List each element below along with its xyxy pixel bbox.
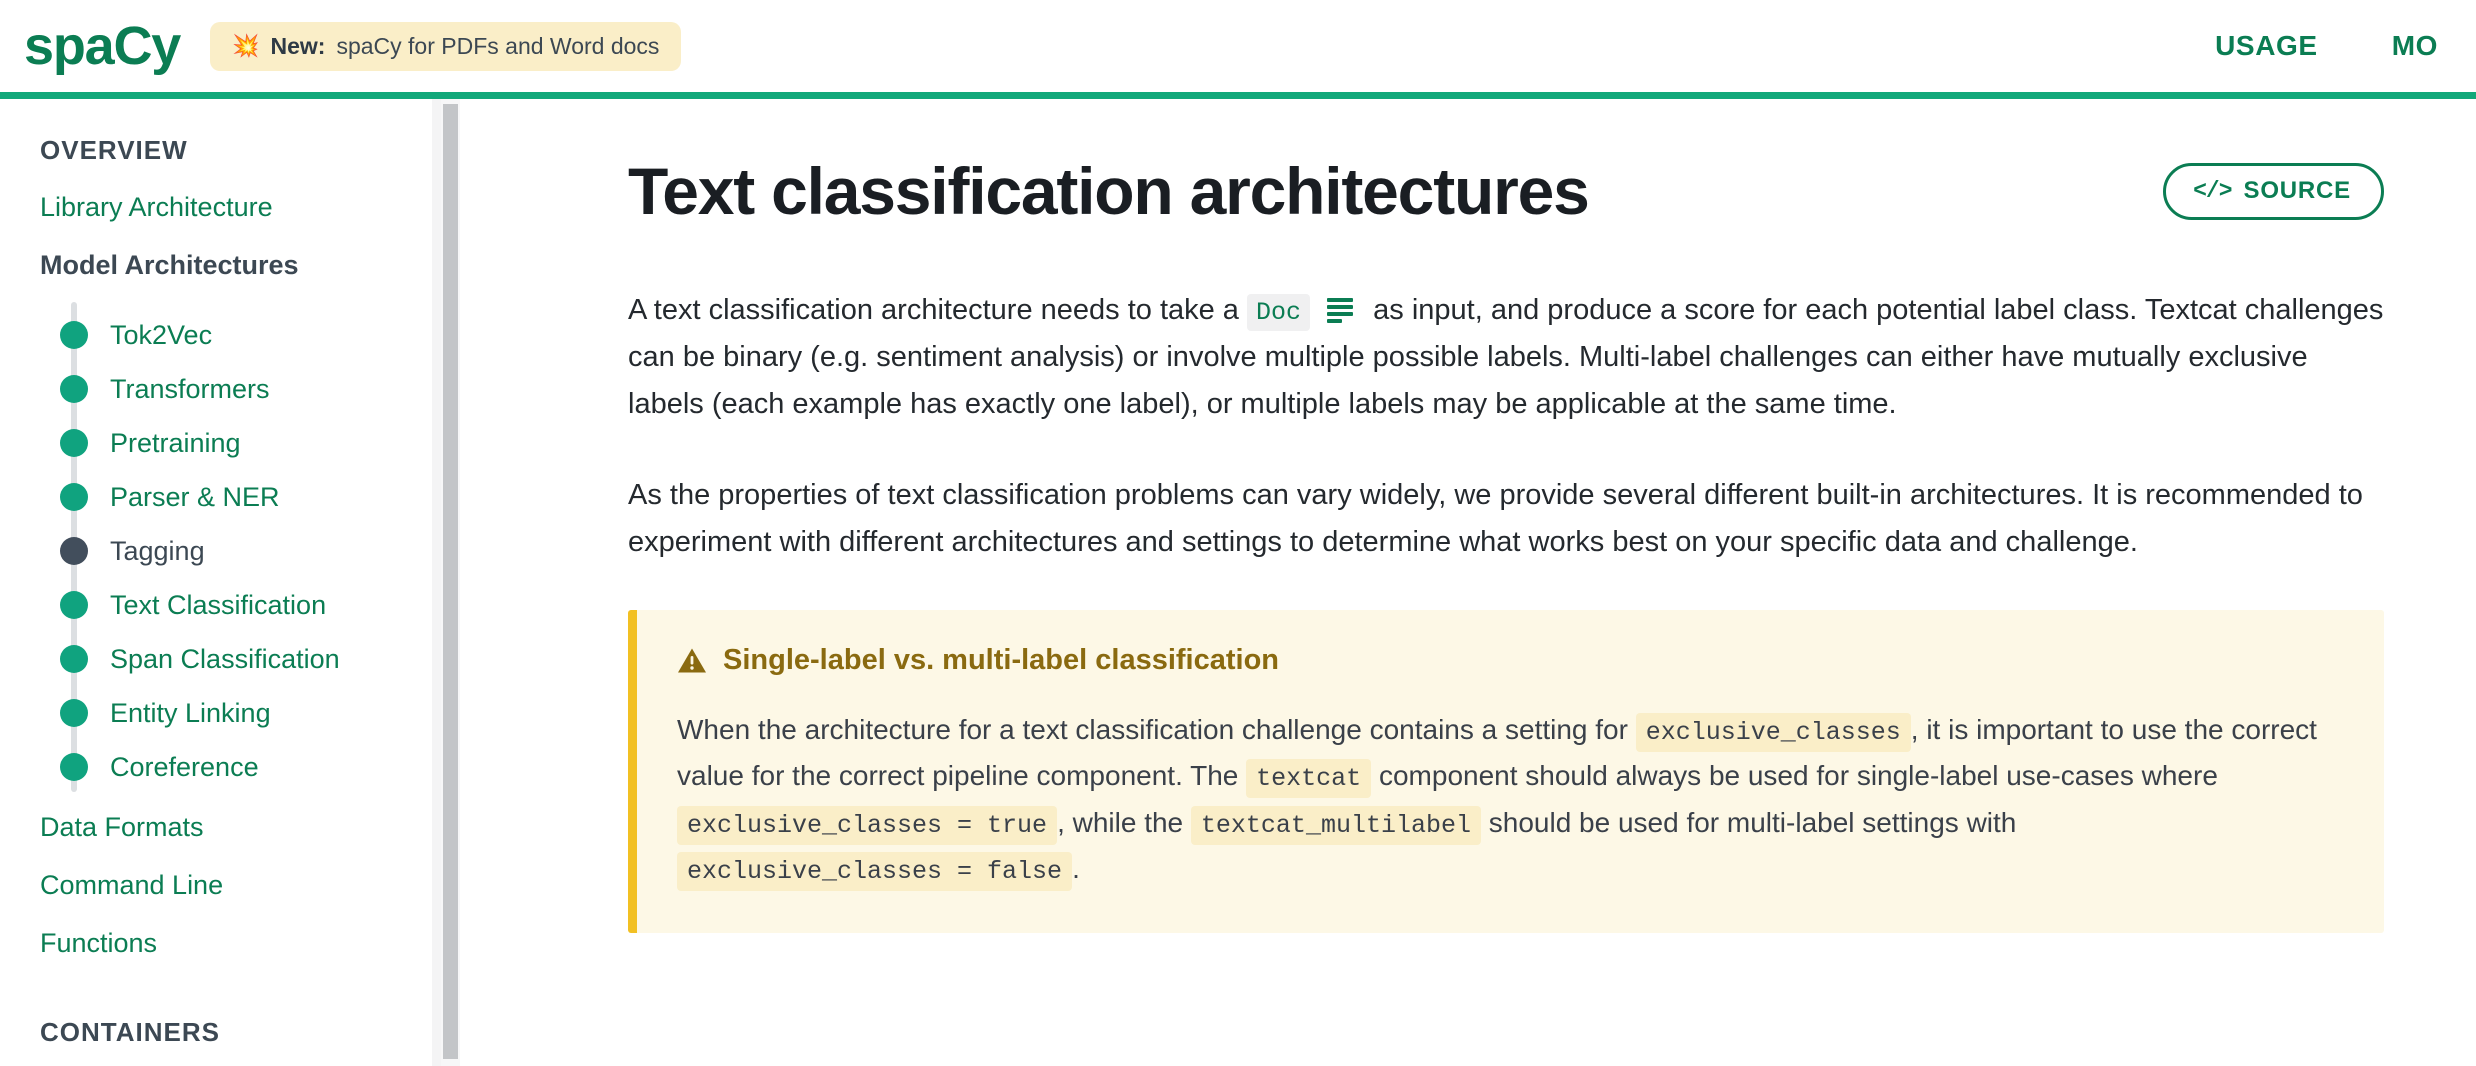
code-brackets-icon: </> bbox=[2193, 178, 2231, 204]
sidebar-section-containers: CONTAINERS bbox=[40, 1017, 432, 1048]
sidebar-subitem-label: Entity Linking bbox=[110, 698, 271, 729]
collision-emoji: 💥 bbox=[232, 35, 259, 57]
site-header: spaCy 💥 New: spaCy for PDFs and Word doc… bbox=[0, 0, 2476, 92]
inline-code-exclusive-classes-false: exclusive_classes = false bbox=[677, 852, 1072, 891]
bullet-dot-icon bbox=[60, 591, 88, 619]
header-accent-rule bbox=[0, 92, 2476, 99]
warning-callout: Single-label vs. multi-label classificat… bbox=[628, 610, 2384, 933]
sidebar-item-tagging[interactable]: Tagging bbox=[40, 524, 432, 578]
callout-seg-4: , while the bbox=[1057, 807, 1183, 838]
inline-code-exclusive-classes-1: exclusive_classes bbox=[1636, 713, 1911, 752]
page-title-row: Text classification architectures </> SO… bbox=[628, 155, 2384, 229]
page-title: Text classification architectures bbox=[628, 155, 1589, 229]
sidebar-subitem-label: Span Classification bbox=[110, 644, 340, 675]
sidebar-item-command-line[interactable]: Command Line bbox=[40, 870, 432, 901]
primary-nav: USAGE MO bbox=[2215, 30, 2438, 62]
sidebar-subitem-label: Transformers bbox=[110, 374, 270, 405]
inline-code-exclusive-classes-true: exclusive_classes = true bbox=[677, 806, 1057, 845]
banner-new-label: New: bbox=[271, 33, 326, 60]
sidebar-subitem-label: Coreference bbox=[110, 752, 259, 783]
sidebar-subitem-label: Pretraining bbox=[110, 428, 241, 459]
bullet-dot-current-icon bbox=[60, 537, 88, 565]
callout-seg-6: . bbox=[1072, 853, 1080, 884]
sidebar-item-parser-ner[interactable]: Parser & NER bbox=[40, 470, 432, 524]
callout-seg-1: When the architecture for a text classif… bbox=[677, 714, 1628, 745]
architectures-paragraph: As the properties of text classification… bbox=[628, 472, 2384, 566]
sidebar-subitem-label: Text Classification bbox=[110, 590, 326, 621]
callout-seg-3: component should always be used for sing… bbox=[1379, 760, 2218, 791]
api-lines-icon[interactable] bbox=[1327, 298, 1353, 322]
bullet-dot-icon bbox=[60, 753, 88, 781]
bullet-dot-icon bbox=[60, 321, 88, 349]
sidebar-divider bbox=[432, 99, 441, 1066]
sidebar-subitem-label: Parser & NER bbox=[110, 482, 280, 513]
warning-triangle-icon bbox=[677, 647, 707, 674]
source-button[interactable]: </> SOURCE bbox=[2163, 163, 2384, 220]
bullet-dot-icon bbox=[60, 699, 88, 727]
sidebar-item-transformers[interactable]: Transformers bbox=[40, 362, 432, 416]
bullet-dot-icon bbox=[60, 645, 88, 673]
banner-text: spaCy for PDFs and Word docs bbox=[336, 33, 659, 60]
inline-code-textcat: textcat bbox=[1246, 759, 1371, 798]
sidebar-item-coreference[interactable]: Coreference bbox=[40, 740, 432, 794]
callout-body: When the architecture for a text classif… bbox=[677, 707, 2344, 893]
sidebar-subitem-label: Tagging bbox=[110, 536, 205, 567]
bullet-dot-icon bbox=[60, 429, 88, 457]
sidebar-item-tok2vec[interactable]: Tok2Vec bbox=[40, 308, 432, 362]
intro-paragraph: A text classification architecture needs… bbox=[628, 287, 2384, 428]
sidebar-item-span-classification[interactable]: Span Classification bbox=[40, 632, 432, 686]
callout-title-text: Single-label vs. multi-label classificat… bbox=[723, 644, 1279, 677]
paragraph1-pre-text: A text classification architecture needs… bbox=[628, 294, 1239, 326]
source-button-label: SOURCE bbox=[2244, 177, 2351, 205]
bullet-dot-icon bbox=[60, 483, 88, 511]
sidebar-item-model-architectures[interactable]: Model Architectures bbox=[40, 250, 432, 281]
nav-item-models[interactable]: MO bbox=[2392, 30, 2438, 62]
sidebar-item-pretraining[interactable]: Pretraining bbox=[40, 416, 432, 470]
sidebar-nav: OVERVIEW Library Architecture Model Arch… bbox=[0, 99, 432, 1066]
announcement-banner[interactable]: 💥 New: spaCy for PDFs and Word docs bbox=[210, 22, 681, 71]
sidebar-item-entity-linking[interactable]: Entity Linking bbox=[40, 686, 432, 740]
nav-item-usage[interactable]: USAGE bbox=[2215, 30, 2318, 62]
callout-title-row: Single-label vs. multi-label classificat… bbox=[677, 644, 2344, 677]
main-content: Text classification architectures </> SO… bbox=[460, 99, 2476, 1066]
spacy-logo[interactable]: spaCy bbox=[24, 19, 180, 73]
sidebar-scrollbar-thumb[interactable] bbox=[443, 104, 458, 1059]
sidebar-item-library-architecture[interactable]: Library Architecture bbox=[40, 192, 432, 223]
sidebar-item-functions[interactable]: Functions bbox=[40, 928, 432, 959]
sidebar-item-data-formats[interactable]: Data Formats bbox=[40, 812, 432, 843]
inline-code-textcat-multilabel: textcat_multilabel bbox=[1191, 806, 1481, 845]
sidebar-section-overview: OVERVIEW bbox=[40, 135, 432, 166]
inline-code-doc[interactable]: Doc bbox=[1247, 294, 1310, 331]
sidebar-subitem-label: Tok2Vec bbox=[110, 320, 212, 351]
sidebar-subtree: Tok2Vec Transformers Pretraining Parser … bbox=[40, 308, 432, 794]
bullet-dot-icon bbox=[60, 375, 88, 403]
sidebar-item-text-classification[interactable]: Text Classification bbox=[40, 578, 432, 632]
callout-seg-5: should be used for multi-label settings … bbox=[1489, 807, 2017, 838]
